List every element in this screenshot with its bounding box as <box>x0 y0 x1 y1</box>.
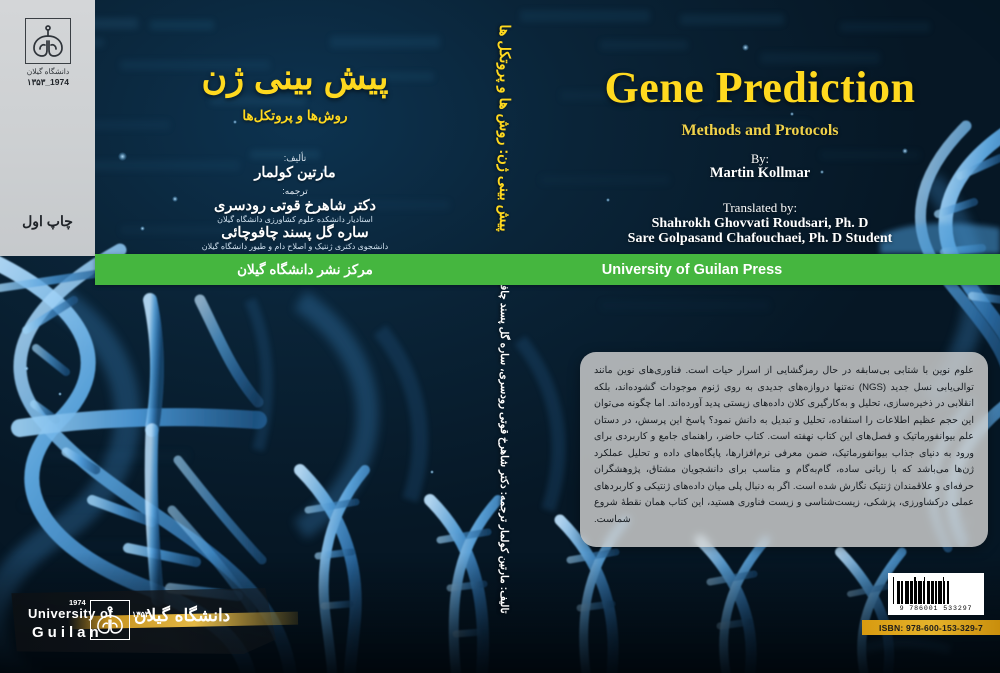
publisher-band-english: University of Guilan Press <box>532 254 852 285</box>
author-name: مارتین کولمار <box>130 165 460 181</box>
author-label: تألیف: <box>130 153 460 164</box>
book-cover-spread: دانشگاه گیلان ۱۳۵۳_1974 چاپ اول پیش بینی… <box>0 0 1000 673</box>
edition-label: چاپ اول <box>0 213 95 230</box>
university-seal: دانشگاه گیلان ۱۳۵۳_1974 <box>13 18 83 88</box>
book-spine: پیش بینی ژن: روش ها و پروتکل ها تالیف: م… <box>474 0 526 673</box>
spine-authors: تالیف: مارتین کولمار ترجمه: دکتر شاهرخ ق… <box>498 246 510 626</box>
back-cover-subtitle: روش‌ها و پروتکل‌ها <box>130 108 460 124</box>
barcode-bars <box>893 577 979 604</box>
bokeh-dot <box>24 366 29 371</box>
front-cover-subtitle: Methods and Protocols <box>530 122 990 140</box>
translator-1-name: دکتر شاهرخ قوتی رودسری <box>130 198 460 214</box>
translator-2-name: ساره گل پسند چافوچائی <box>130 225 460 241</box>
translator-1-affiliation: استادیار دانشکده علوم کشاورزی دانشگاه گی… <box>130 215 460 224</box>
barcode-digits: 9 786001 533297 <box>893 605 979 612</box>
back-cover-blurb: علوم نوین با شتابی بی‌سابقه در حال رمزگش… <box>580 352 988 547</box>
front-cover-translated-label: Translated by: <box>530 200 990 216</box>
back-cover-credits: تألیف: مارتین کولمار ترجمه: دکتر شاهرخ ق… <box>130 148 460 251</box>
translator-2-affiliation: دانشجوی دکتری ژنتیک و اصلاح دام و طیور د… <box>130 242 460 251</box>
bokeh-dot <box>118 152 127 161</box>
university-logo-lockup: 1974 University of Guilan ۱۳۵۳ دانشگاه گ… <box>6 588 276 654</box>
publisher-band-persian: مرکز نشر دانشگاه گیلان <box>95 254 515 285</box>
university-seal-icon <box>25 18 71 64</box>
isbn-bar: ISBN: 978-600-153-329-7 <box>862 620 1000 635</box>
guilan-emblem-icon <box>26 19 70 63</box>
front-cover-translator-2: Sare Golpasand Chafouchaei, Ph. D Studen… <box>530 231 990 247</box>
logo-emblem-icon <box>90 600 130 640</box>
publisher-band: مرکز نشر دانشگاه گیلان University of Gui… <box>95 254 1000 285</box>
seal-caption: دانشگاه گیلان <box>13 67 83 76</box>
barcode-bar <box>947 581 949 604</box>
barcode: 9 786001 533297 <box>888 573 984 615</box>
front-cover-author: Martin Kollmar <box>530 165 990 182</box>
bokeh-dot <box>58 392 62 396</box>
seal-years: ۱۳۵۳_1974 <box>13 77 83 88</box>
bokeh-dot <box>742 44 749 51</box>
front-cover-translator-1: Shahrokh Ghovvati Roudsari, Ph. D <box>530 216 990 232</box>
logo-persian-name: دانشگاه گیلان <box>134 606 270 626</box>
back-cover-title: پیش بینی ژن <box>130 58 460 98</box>
spine-title: پیش بینی ژن: روش ها و پروتکل ها <box>496 0 512 263</box>
bokeh-dot <box>430 470 434 474</box>
front-cover-title: Gene Prediction <box>530 62 990 113</box>
translator-label: ترجمه: <box>130 186 460 197</box>
back-flap-panel: دانشگاه گیلان ۱۳۵۳_1974 چاپ اول <box>0 0 95 256</box>
guilan-emblem-icon <box>91 601 129 639</box>
